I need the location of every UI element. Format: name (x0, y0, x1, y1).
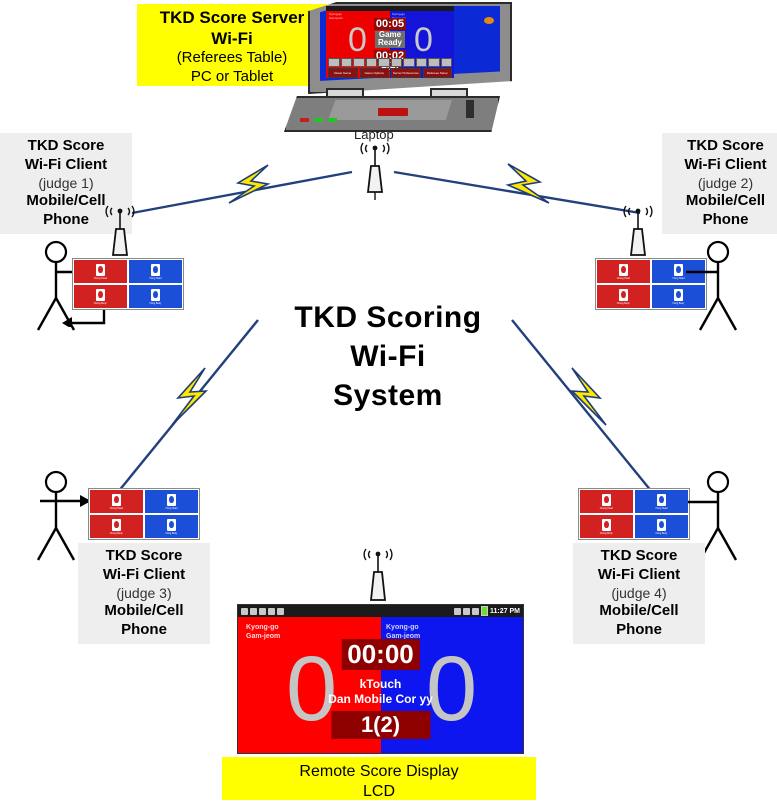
lcd-penalty-left-kyonggo: Kyong-go (246, 623, 280, 632)
wifi-router-server (355, 142, 395, 200)
notification-icon (277, 608, 284, 615)
judge3-line5: Phone (84, 621, 204, 640)
alarm-icon (454, 608, 461, 615)
judge2-person (686, 240, 748, 332)
link-laptop-judge4 (512, 320, 652, 492)
laptop-strip-btn (353, 58, 365, 67)
battery-icon (481, 606, 488, 616)
laptop-strip-btn (428, 58, 440, 67)
title-line-1: TKD Scoring (258, 298, 518, 337)
body-target-icon (657, 519, 666, 531)
judge4-line5: Phone (579, 621, 699, 640)
body-target-icon (602, 519, 611, 531)
laptop-game-state: Game Ready (375, 31, 405, 48)
judge1-line3: (judge 1) (6, 175, 126, 193)
judge3-line4: Mobile/Cell (84, 602, 204, 621)
judge2-label: TKD Score Wi-Fi Client (judge 2) Mobile/… (662, 133, 777, 234)
laptop-strip-btn (391, 58, 403, 67)
lcd-status-bar: 11:27 PM (238, 605, 523, 617)
laptop-reset-game-button: Reset Game (328, 68, 358, 78)
laptop-led-1 (300, 118, 309, 122)
judge1-score-pad[interactable]: Chung Head Hong Head Chung Body Hong Bod… (72, 258, 184, 310)
pad-cell-chung-body[interactable]: Chung Body (596, 284, 651, 309)
judge2-line5: Phone (668, 211, 777, 230)
lcd-penalty-right-kyonggo: Kyong-go (386, 623, 420, 632)
pad-cell-chung-body[interactable]: Chung Body (89, 514, 144, 539)
laptop-timer: 00:05 (374, 18, 406, 30)
lcd-penalty-left: Kyong-go Gam-jeom (246, 623, 280, 642)
laptop-strip-btn (416, 58, 428, 67)
laptop-caption: Laptop (354, 127, 394, 142)
link-laptop-judge3 (118, 320, 258, 492)
judge3-label: TKD Score Wi-Fi Client (judge 3) Mobile/… (78, 543, 210, 644)
title-line-2: Wi-Fi (258, 337, 518, 376)
judge1-line2: Wi-Fi Client (6, 156, 126, 175)
head-target-icon (657, 494, 666, 506)
head-target-icon (167, 494, 176, 506)
lcd-penalty-left-gamjeom: Gam-jeom (246, 632, 280, 641)
pad-cell-hong-body[interactable]: Hong Body (144, 514, 199, 539)
laptop-score-left: 0 (348, 23, 367, 57)
lcd-clock: 11:27 PM (490, 608, 520, 615)
laptop-strip-btn (378, 58, 390, 67)
judge4-line4: Mobile/Cell (579, 602, 699, 621)
laptop-strip-btn (328, 58, 340, 67)
lcd-match-timer: 00:00 (341, 639, 420, 670)
notification-icon (259, 608, 266, 615)
laptop-referees-setup-button: Referees Setup (423, 68, 453, 78)
laptop-power-button (378, 108, 408, 116)
pad-cell-hong-head[interactable]: Hong Head (144, 489, 199, 514)
body-target-icon (151, 289, 160, 301)
body-target-icon (674, 289, 683, 301)
laptop-port-panel (466, 100, 474, 118)
title-line-3: System (258, 376, 518, 415)
wifi-router-judge2 (618, 205, 658, 263)
judge3-line3: (judge 3) (84, 585, 204, 603)
laptop-score-right: 0 (414, 23, 433, 57)
judge2-line1: TKD Score (668, 137, 777, 156)
pad-cell-chung-body[interactable]: Chung Body (579, 514, 634, 539)
judge2-line2: Wi-Fi Client (668, 156, 777, 175)
lcd-status-system-icons: 11:27 PM (454, 606, 520, 616)
laptop-led-3 (328, 118, 337, 122)
pad-cell-chung-body[interactable]: Chung Body (73, 284, 128, 309)
pad-cell-chung-head[interactable]: Chung Head (73, 259, 128, 284)
lcd-round-indicator: 1(2) (331, 711, 430, 739)
judge2-line3: (judge 2) (668, 175, 777, 193)
wifi-icon (463, 608, 470, 615)
judge3-line1: TKD Score (84, 547, 204, 566)
body-target-icon (112, 519, 121, 531)
laptop-scoreboard-app: Kyong-go Gam-jeom Kyong-go Gam-jeom 0 0 … (326, 6, 454, 78)
signal-icon (472, 608, 479, 615)
link-laptop-judge1 (132, 165, 352, 213)
lcd-status-notification-icons (241, 608, 284, 615)
head-target-icon (674, 264, 683, 276)
judge1-line1: TKD Score (6, 137, 126, 156)
laptop-penalty-left: Kyong-go Gam-jeom (329, 13, 343, 21)
body-target-icon (96, 289, 105, 301)
link-laptop-judge2 (394, 164, 640, 213)
head-target-icon (96, 264, 105, 276)
head-target-icon (112, 494, 121, 506)
remote-score-display: 11:27 PM Kyong-go Gam-jeom Kyong-go Gam-… (237, 604, 524, 754)
pad-cell-chung-head[interactable]: Chung Head (579, 489, 634, 514)
lcd-callout-box: Remote Score Display LCD (222, 757, 536, 800)
wifi-router-lcd (358, 548, 398, 608)
laptop-button-strip (328, 58, 452, 67)
judge3-score-pad[interactable]: Chung Head Hong Head Chung Body Hong Bod… (88, 488, 200, 540)
pad-cell-hong-head[interactable]: Hong Head (634, 489, 689, 514)
notification-icon (250, 608, 257, 615)
head-target-icon (619, 264, 628, 276)
laptop-server-preferences-button: Server Preferences (391, 68, 421, 78)
page-title: TKD Scoring Wi-Fi System (258, 298, 518, 415)
laptop-led-2 (314, 118, 323, 122)
notification-icon (268, 608, 275, 615)
lcd-score-right: 0 (426, 652, 477, 727)
pad-cell-hong-head[interactable]: Hong Head (128, 259, 183, 284)
head-target-icon (602, 494, 611, 506)
judge4-line1: TKD Score (579, 547, 699, 566)
laptop-lid-indicator (484, 17, 494, 24)
body-target-icon (619, 289, 628, 301)
judge4-line3: (judge 4) (579, 585, 699, 603)
head-target-icon (151, 264, 160, 276)
lcd-app-title: kTouch (360, 677, 402, 691)
laptop-control-buttons: Reset Game Game Options Server Preferenc… (328, 68, 452, 78)
lcd-box-line1: Remote Score Display (222, 762, 536, 782)
laptop-device: Kyong-go Gam-jeom Kyong-go Gam-jeom 0 0 … (280, 0, 520, 140)
judge4-line2: Wi-Fi Client (579, 566, 699, 585)
notification-icon (241, 608, 248, 615)
judge3-line2: Wi-Fi Client (84, 566, 204, 585)
laptop-strip-btn (441, 58, 453, 67)
lcd-app-subtitle: Dan Mobile Cor yy (328, 692, 433, 706)
pad-cell-hong-body[interactable]: Hong Body (634, 514, 689, 539)
laptop-game-options-button: Game Options (360, 68, 390, 78)
judge2-line4: Mobile/Cell (668, 192, 777, 211)
body-target-icon (167, 519, 176, 531)
pad-cell-chung-head[interactable]: Chung Head (596, 259, 651, 284)
laptop-strip-btn (341, 58, 353, 67)
judge4-label: TKD Score Wi-Fi Client (judge 4) Mobile/… (573, 543, 705, 644)
wifi-router-judge1 (100, 205, 140, 263)
laptop-app-titlebar (326, 6, 454, 11)
lcd-box-line2: LCD (222, 782, 536, 801)
pad-cell-hong-body[interactable]: Hong Body (128, 284, 183, 309)
lcd-app-name: kTouch Dan Mobile Cor yy (328, 677, 433, 707)
judge3-pointer-arrow (40, 494, 92, 508)
laptop-strip-btn (403, 58, 415, 67)
laptop-strip-btn (366, 58, 378, 67)
judge4-score-pad[interactable]: Chung Head Hong Head Chung Body Hong Bod… (578, 488, 690, 540)
pad-cell-chung-head[interactable]: Chung Head (89, 489, 144, 514)
